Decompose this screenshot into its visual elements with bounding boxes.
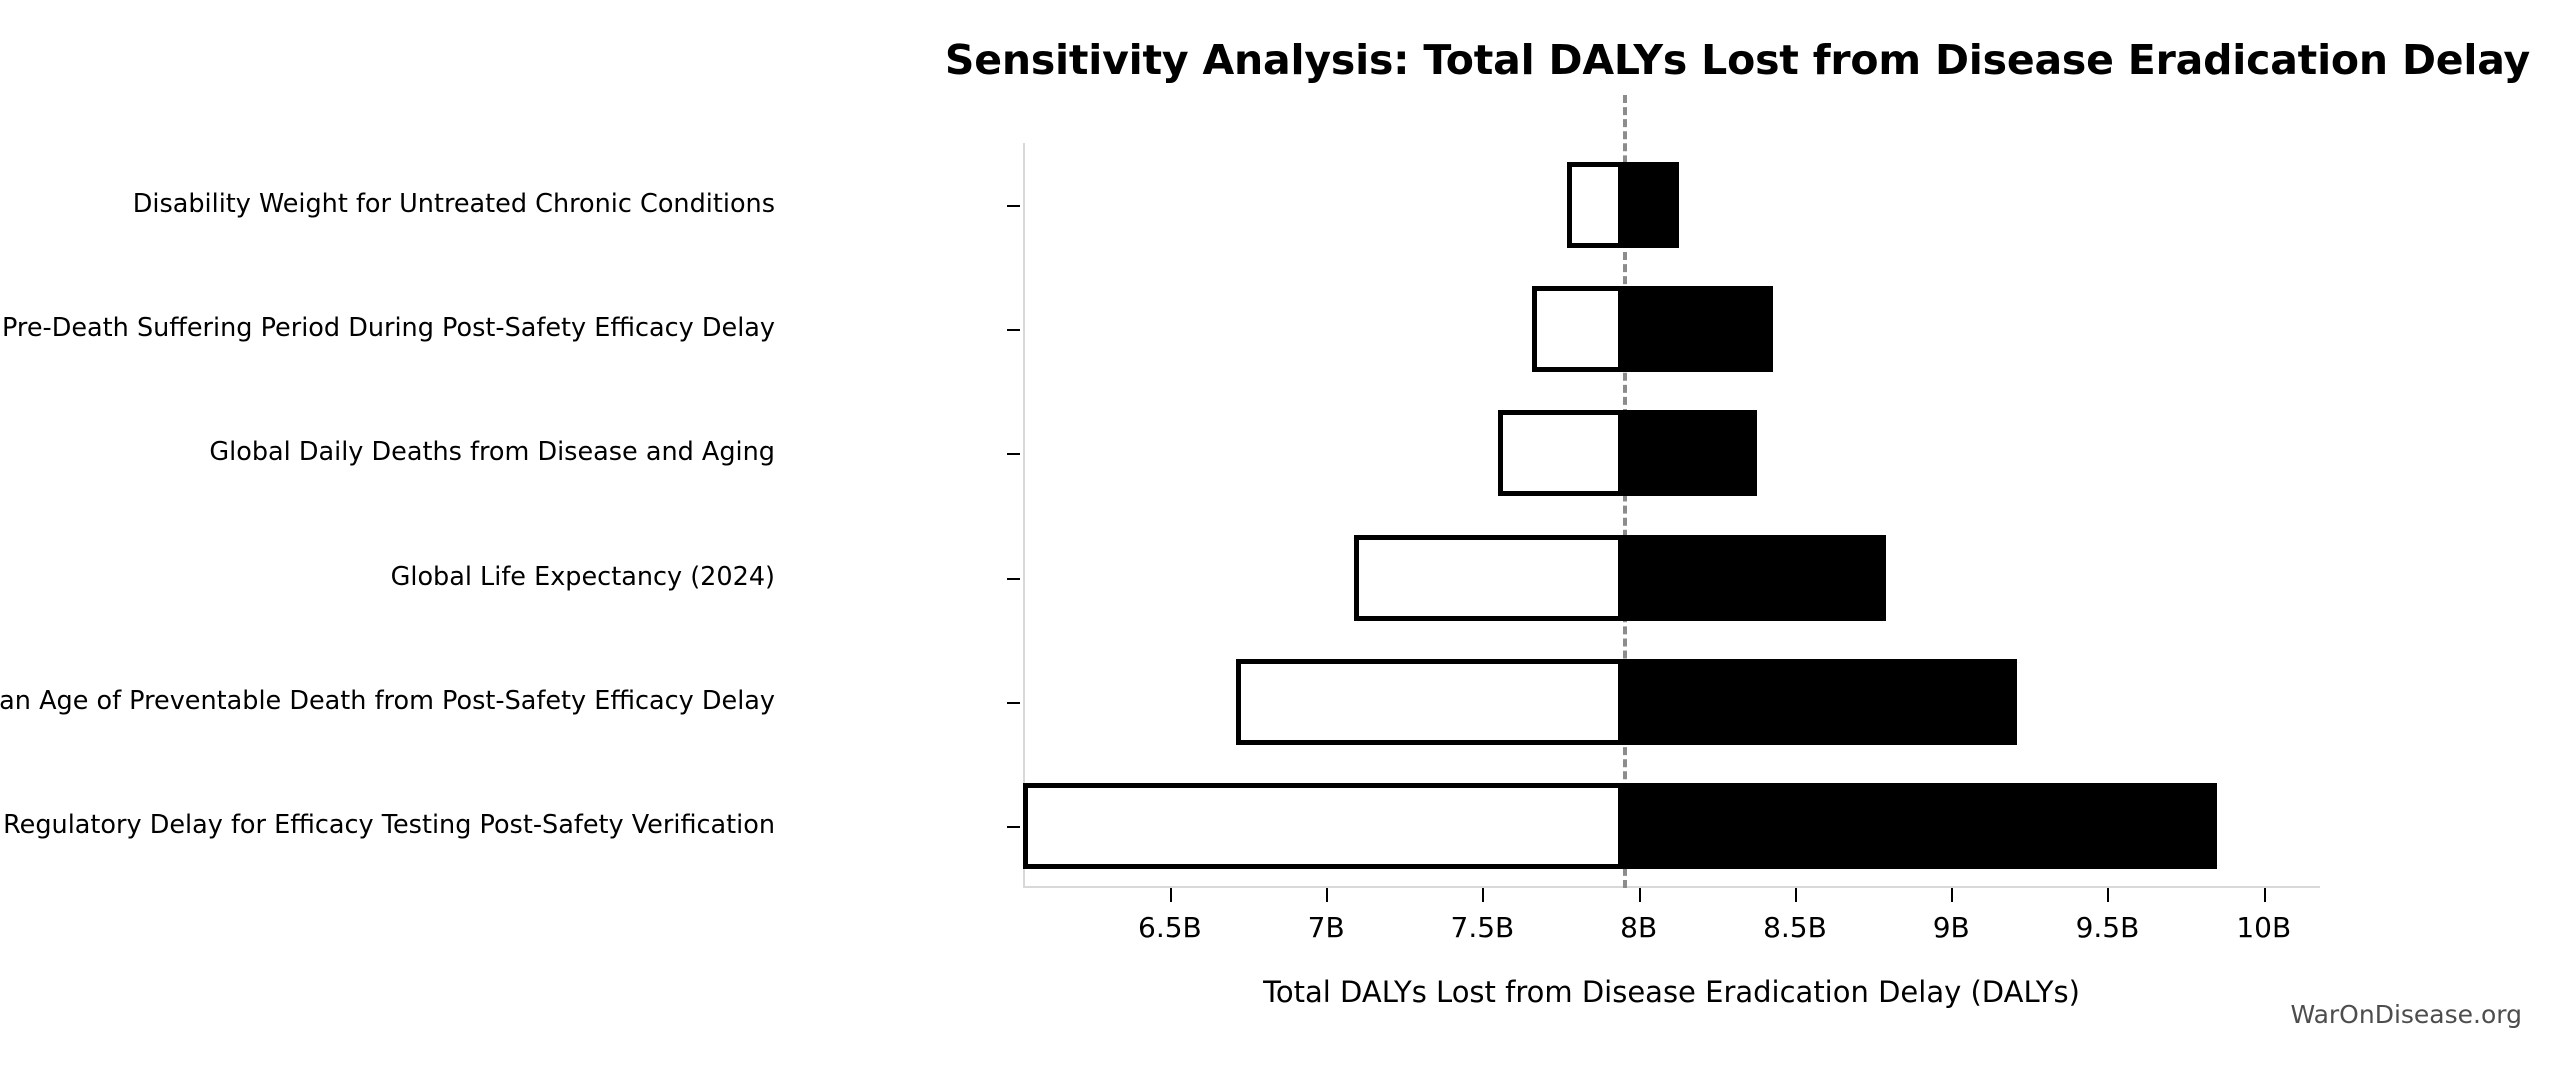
tornado-bar-high-segment[interactable] (1623, 162, 1679, 248)
tornado-bar-low-segment[interactable] (1532, 286, 1623, 372)
y-tick-mark (1007, 205, 1020, 207)
x-axis-tick-label: 8.5B (1763, 911, 1827, 944)
tornado-bar-row[interactable] (1023, 783, 2320, 869)
watermark: WarOnDisease.org (2290, 1000, 2522, 1029)
x-tick-mark (1639, 888, 1641, 902)
tornado-bar-row[interactable] (1023, 286, 2320, 372)
chart-title: Sensitivity Analysis: Total DALYs Lost f… (0, 36, 2530, 84)
x-axis-tick-label: 7B (1308, 911, 1345, 944)
x-tick-mark (1482, 888, 1484, 902)
tornado-bar-low-segment[interactable] (1567, 162, 1623, 248)
tornado-bar-high-segment[interactable] (1623, 659, 2017, 745)
x-axis-tick-label: 6.5B (1138, 911, 1202, 944)
x-axis-tick-label: 9B (1933, 911, 1970, 944)
x-axis-title: Total DALYs Lost from Disease Eradicatio… (1023, 975, 2320, 1009)
y-tick-mark (1007, 826, 1020, 828)
x-tick-mark (1951, 888, 1953, 902)
x-axis-spine (1023, 886, 2320, 888)
x-tick-mark (2107, 888, 2109, 902)
x-tick-mark (2264, 888, 2266, 902)
tornado-bar-low-segment[interactable] (1236, 659, 1624, 745)
tornado-bar-row[interactable] (1023, 162, 2320, 248)
y-tick-mark (1007, 453, 1020, 455)
y-tick-mark (1007, 329, 1020, 331)
tornado-bar-low-segment[interactable] (1354, 535, 1623, 621)
y-axis-spine (1023, 143, 1025, 888)
y-axis-category-label: Global Life Expectancy (2024) (391, 565, 775, 591)
chart-figure: Sensitivity Analysis: Total DALYs Lost f… (0, 0, 2550, 1075)
tornado-bar-high-segment[interactable] (1623, 783, 2217, 869)
y-axis-category-label: Mean Age of Preventable Death from Post-… (0, 689, 775, 715)
tornado-bar-row[interactable] (1023, 535, 2320, 621)
tornado-bar-low-segment[interactable] (1023, 783, 1623, 869)
y-axis-category-label: Pre-Death Suffering Period During Post-S… (2, 316, 775, 342)
x-tick-mark (1795, 888, 1797, 902)
tornado-bar-high-segment[interactable] (1623, 410, 1757, 496)
x-axis-tick-label: 9.5B (2076, 911, 2140, 944)
tornado-bar-high-segment[interactable] (1623, 286, 1773, 372)
tornado-bar-row[interactable] (1023, 410, 2320, 496)
y-axis-category-label: Disability Weight for Untreated Chronic … (133, 192, 775, 218)
tornado-bar-high-segment[interactable] (1623, 535, 1886, 621)
y-tick-mark (1007, 578, 1020, 580)
y-axis-category-label: Regulatory Delay for Efficacy Testing Po… (3, 813, 775, 839)
tornado-bar-row[interactable] (1023, 659, 2320, 745)
y-tick-mark (1007, 702, 1020, 704)
tornado-bar-low-segment[interactable] (1498, 410, 1623, 496)
x-axis-tick-label: 10B (2236, 911, 2291, 944)
y-axis-category-label: Global Daily Deaths from Disease and Agi… (209, 440, 775, 466)
x-axis-tick-label: 7.5B (1451, 911, 1515, 944)
plot-area: Disability Weight for Untreated Chronic … (1023, 143, 2320, 888)
x-axis-tick-label: 8B (1620, 911, 1657, 944)
x-tick-mark (1170, 888, 1172, 902)
x-tick-mark (1326, 888, 1328, 902)
